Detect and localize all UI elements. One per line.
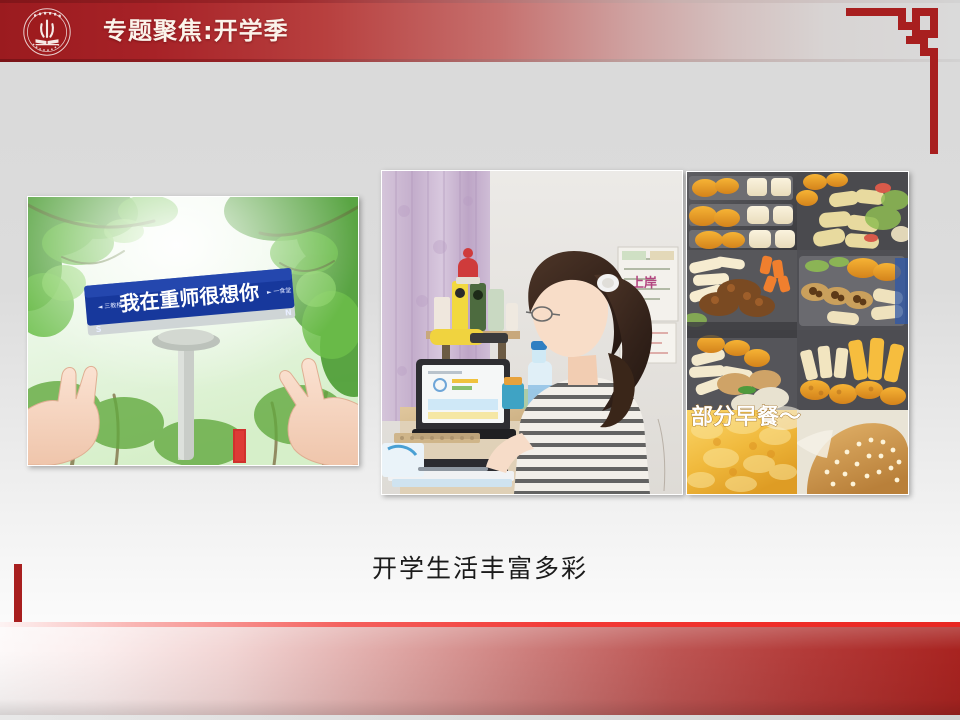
slide-header: 专题聚焦:开学季 xyxy=(0,0,960,62)
photo-campus-signpost[interactable]: 我在重师很想你 ◄ 三教楼 ► 一食堂 S N xyxy=(27,196,359,466)
photo-campus-signpost-image: 我在重师很想你 ◄ 三教楼 ► 一食堂 S N xyxy=(28,197,358,465)
slide-caption: 开学生活丰富多彩 xyxy=(0,549,960,585)
page-title: 专题聚焦:开学季 xyxy=(103,11,289,46)
svg-text:N: N xyxy=(285,308,292,318)
photo-dorm-study-image: 上岸 xyxy=(382,171,682,494)
university-emblem-icon xyxy=(20,6,74,58)
corner-bracket-top-right-icon xyxy=(846,8,940,154)
slide-footer-band xyxy=(0,622,960,720)
footer-base-strip xyxy=(0,715,960,720)
footer-shade-overlay xyxy=(0,627,960,715)
header-bottom-line xyxy=(0,59,960,62)
svg-text:部分早餐～: 部分早餐～ xyxy=(691,404,801,430)
photo-breakfast-collage-image: 部分早餐～ xyxy=(687,172,908,494)
photo-dorm-study[interactable]: 上岸 xyxy=(381,170,683,495)
header-top-line xyxy=(0,0,960,3)
photo-breakfast-collage[interactable]: 部分早餐～ xyxy=(686,171,909,495)
slide-canvas: 专题聚焦:开学季 xyxy=(0,0,960,720)
svg-text:S: S xyxy=(95,325,102,334)
